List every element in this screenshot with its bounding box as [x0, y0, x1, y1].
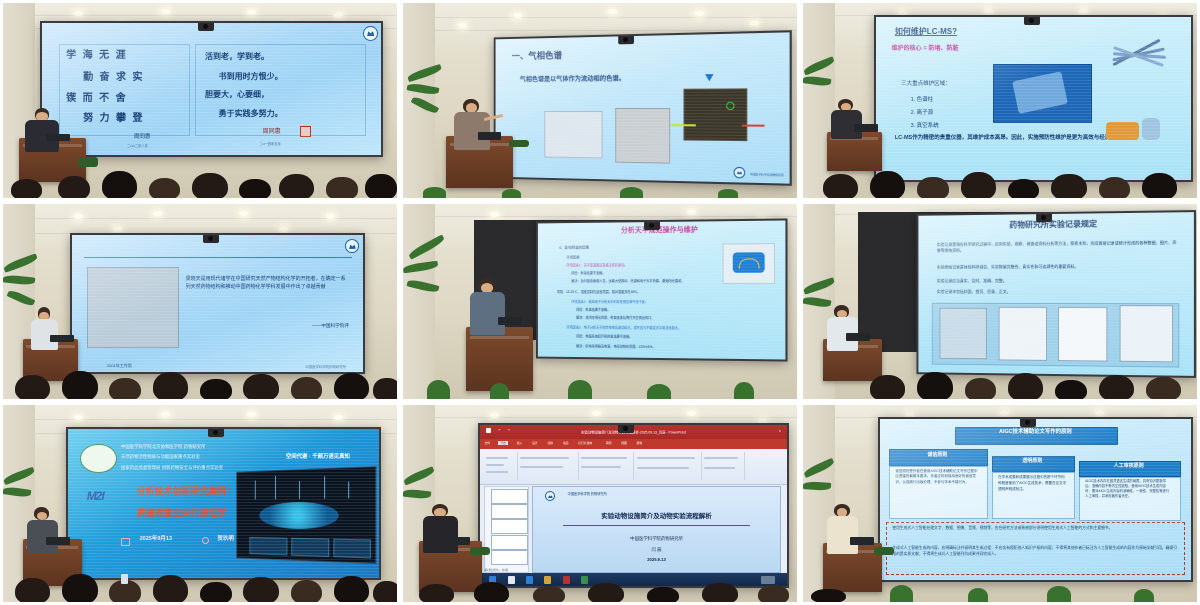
card-heading: 诚信原则 [889, 452, 985, 458]
camera-icon [198, 22, 214, 31]
slide-title: 分析天平规范操作与维护 [538, 226, 786, 237]
speaker-figure [831, 99, 863, 138]
speaker-figure [31, 307, 59, 348]
slide-thumbnail[interactable] [491, 519, 528, 534]
image-gc-instrument [615, 108, 670, 164]
camera-icon [1024, 16, 1040, 25]
deck-presenter: 闫 辰 [533, 547, 780, 553]
down-arrow-icon [705, 74, 713, 81]
slide-lcms: 如何维护LC-MS? 维护的核心 = 防堵、防脏 三大重点维护区域： 1. 色谱… [876, 17, 1191, 181]
list-item: 1. 色谱柱 [911, 97, 934, 104]
institute-logo-icon [345, 239, 359, 253]
calligraphy-right-line-2: 书到用时方恨少。 [219, 72, 283, 82]
slide-lab-records: 药物研究所实验记录规定 实验记录是指在科学研究过程中，应用实验、观察、调查或资料… [919, 212, 1194, 376]
section-label: 三大重点维护区域： [901, 81, 951, 88]
close-icon[interactable]: ✕ [778, 429, 781, 433]
slide-title-line-1: 分析技术创新研究案例： [136, 486, 235, 497]
audience [3, 161, 397, 198]
sop-line: 风险：18-25℃，湿度控制在适宜范围，相对湿度多在45%。 [557, 290, 739, 294]
tab-design[interactable]: 设计 [532, 441, 538, 445]
slide-presenter: 贺玖明 [217, 536, 234, 543]
calligraphy-right-sign: 周同惠 [263, 129, 281, 137]
list-item: 2. 离子源 [911, 110, 934, 117]
slide-thumbnail[interactable] [491, 535, 528, 550]
image-gc-workstation [544, 111, 602, 159]
slide-subtitle: 维护的核心 = 防堵、防脏 [892, 46, 959, 54]
projection-screen: 如何维护LC-MS? 维护的核心 = 防堵、防脏 三大重点维护区域： 1. 色谱… [874, 15, 1193, 183]
calligraphy-right-line-3: 胆要大，心要细， [205, 90, 269, 100]
projection-screen: AIGC技术辅助论文写作的原则 诚信原则 诚信原则是作者在使用AIGC技术辅助论… [878, 417, 1193, 582]
institute-logo-icon [363, 26, 378, 41]
slide-title: 一、气相色谱 [511, 51, 561, 63]
tab-animations[interactable]: 动画 [563, 441, 569, 445]
powerpoint-window[interactable]: ↶ ↷ 实验动物设施简介及动物实验流程解析-2025.09.13_闫辰 - Po… [480, 425, 787, 586]
panel-7-msi-title[interactable]: 中国医学科学院北京协和医学院 药物研究所 天然药物活性物质与功能国家重点实验室 … [0, 402, 400, 605]
slide-title: AIGC技术辅助论文写作的原则 [955, 429, 1117, 436]
bullet-item: 实验记录应当真实、及时、准确、完整。 [937, 277, 1179, 283]
photo-collage-grid: 学 海 无 涯 勤 奋 求 实 锲 而 不 舍 努 力 攀 登 周同惠 二OO二… [0, 0, 1200, 605]
card-body: 在学术成果和成果展示过程中的那个环节何种程度使用了AIGC生成技术，需要在论文中… [998, 475, 1066, 492]
projection-screen: 学 海 无 涯 勤 奋 求 实 锲 而 不 舍 努 力 攀 登 周同惠 二OO二… [40, 21, 383, 158]
ppt-ribbon-tabs[interactable]: 文件 开始 插入 设计 切换 动画 幻灯片放映 审阅 视图 帮助 [480, 439, 787, 449]
tab-insert[interactable]: 插入 [517, 441, 523, 445]
slide-msi-title: 中国医学科学院北京协和医学院 药物研究所 天然药物活性物质与功能国家重点实验室 … [68, 429, 379, 579]
card-heading: 人工审核原则 [1079, 463, 1179, 469]
laptop [46, 134, 70, 142]
org-line: 中国医学科学院北京协和医学院 药物研究所 [121, 444, 206, 451]
sop-line: 环境因素2：使用电子分析天平时存在强空调气流干扰。 [571, 299, 749, 303]
footnote: 使用生成式人工智能处理文字、数据、图像、音频、视频等，应在研究方法或致谢部分说明… [892, 525, 1178, 531]
redo-icon[interactable]: ↷ [508, 428, 511, 432]
camera-icon [208, 428, 224, 437]
calligraphy-right-date: 二O一四年五月 [259, 142, 280, 146]
quote-body: 梁晓天是用现代诸学在中国研究天然产物结构化学的开拓者，在确定一系列天然药物结构和… [186, 275, 349, 292]
image-notebook-4 [1120, 305, 1173, 363]
panel-6-lab-records[interactable]: 药物研究所实验记录规定 实验记录是指在科学研究过程中，应用实验、观察、调查或资料… [800, 201, 1200, 402]
panel-1-calligraphy[interactable]: 学 海 无 涯 勤 奋 求 实 锲 而 不 舍 努 力 攀 登 周同惠 二OO二… [0, 0, 400, 201]
sop-line: 环境因素1：天平室温度过高或过低并波动。 [567, 263, 628, 267]
camera-icon [1020, 418, 1036, 427]
sop-line: 风险：电路系统损坏和称量结果不准确。 [576, 334, 744, 339]
calligraphy-left-line-4: 努 力 攀 登 [83, 113, 145, 126]
sop-line: 解决：及时报告管理人员，远离大型振动、热源和电子天平热源，避免阳光直射。 [571, 279, 734, 283]
deck-logo-text: 中国医学科学院 药物研究所 [568, 491, 607, 496]
calligraphy-left-line-3: 锲 而 不 舍 [66, 93, 128, 106]
quote-attribution: ——中国科学院评 [312, 323, 349, 329]
person-icon [202, 537, 209, 544]
projection-screen: 一、气相色谱 气相色谱是以气体作为流动相的色谱。 中国医学科学院药物研究所 [493, 30, 792, 186]
card-body: 诚信原则是作者在使用AIGC技术辅助论文写作过程中应遵循的最基本要求。作者应时刻… [895, 469, 979, 486]
tab-home[interactable]: 开始 [498, 441, 508, 445]
camera-icon [618, 424, 634, 433]
sop-line: 解决：供电采用稳压电源，电压控制在范围，220V±5%。 [576, 344, 744, 350]
seal-stamp-icon [300, 126, 311, 137]
card-body: AIGC技术内存在固然语言生成的局限，具有知识更新滞后、准确内容不等内生性缺陷。… [1085, 479, 1172, 499]
slide-gc-intro: 一、气相色谱 气相色谱是以气体作为流动相的色谱。 中国医学科学院药物研究所 [495, 33, 790, 184]
projection-screen: 药物研究所实验记录规定 实验记录是指在科学研究过程中，应用实验、观察、调查或资料… [917, 210, 1196, 378]
tab-help[interactable]: 帮助 [637, 441, 643, 445]
ppt-ribbon[interactable] [480, 449, 787, 486]
list-item: 3. 真空系统 [911, 123, 939, 130]
projection-screen: 中国医学科学院北京协和医学院 药物研究所 天然药物活性物质与功能国家重点实验室 … [66, 427, 381, 581]
image-notebook-3 [1059, 306, 1108, 361]
slide-aigc: AIGC技术辅助论文写作的原则 诚信原则 诚信原则是作者在使用AIGC技术辅助论… [880, 419, 1191, 580]
image-vacuum-pump [1106, 112, 1175, 148]
tab-view[interactable]: 视图 [621, 441, 627, 445]
camera-icon [203, 234, 219, 243]
bullet-item: 实验记录是指在科学研究过程中，应用实验、观察、调查或资料分析等方法，探索未知，完… [937, 240, 1179, 254]
slide-title-line-2: 质谱成像空间代谢组学 [136, 508, 226, 519]
deck-date: 2025.9.13 [533, 557, 780, 562]
phone-icon [121, 574, 128, 584]
sop-line: 解决：关闭空调出风量，称量结束后再打开空调出风口。 [576, 315, 744, 320]
bullet-item: 实验记录本包括封面、首页、目录、正文。 [937, 289, 1179, 294]
image-notebook-1 [940, 308, 987, 359]
slide-canvas[interactable]: 中国医学科学院 药物研究所 实验动物设施简介及动物实验流程解析 中国医学科学院药… [532, 486, 781, 573]
slide-calligraphy: 学 海 无 涯 勤 奋 求 实 锲 而 不 舍 努 力 攀 登 周同惠 二OO二… [42, 23, 381, 156]
calligraphy-right-line-4: 勇于实践多努力。 [219, 109, 283, 119]
image-scientist-portrait [87, 267, 179, 348]
panel-2-gas-chromatography[interactable]: 一、气相色谱 气相色谱是以气体作为流动相的色谱。 中国医学科学院药物研究所 [400, 0, 800, 201]
panel-3-lcms-maintenance[interactable]: 如何维护LC-MS? 维护的核心 = 防堵、防脏 三大重点维护区域： 1. 色谱… [800, 0, 1200, 201]
sop-line: 风险：称量结果不准确。 [576, 307, 610, 311]
slide-subsection: 环境因素 [567, 255, 580, 259]
slide-thumbnail[interactable] [491, 550, 528, 565]
panel-4-scientist-tribute[interactable]: 梁晓天是用现代诸学在中国研究天然产物结构化学的开拓者，在确定一系列天然药物结构和… [0, 201, 400, 402]
slide-tagline: 空间代谢 · 千颜万语见真知 [286, 454, 350, 461]
panel-5-balance-sop[interactable]: 分析天平规范操作与维护 6、影响称量的因素 环境因素 环境因素1：天平室温度过高… [400, 201, 800, 402]
card-heading: 透明原则 [992, 458, 1073, 464]
sop-line: 风险：称量结果不准确。 [571, 271, 605, 275]
tab-slideshow[interactable]: 幻灯片放映 [578, 441, 592, 445]
camera-icon [644, 221, 660, 230]
footnote: 生成式人工智能生成的内容，应明确标注并说明其生成过程；不应含有侵犯他人知识产权的… [892, 545, 1178, 557]
deck-title: 实验动物设施简介及动物实验流程解析 [533, 510, 780, 520]
calligraphy-left-line-1: 学 海 无 涯 [66, 50, 128, 63]
tab-file[interactable]: 文件 [484, 441, 490, 445]
org-line: 国家药品监督管理局 创新药物安全与评价重点实验室 [121, 465, 223, 472]
speaker-figure [25, 108, 60, 151]
calligraphy-right-line-1: 活到老，学到老。 [205, 52, 269, 62]
slide-thumbnail-pane[interactable] [484, 486, 529, 573]
camera-icon [618, 35, 634, 44]
calendar-icon [121, 538, 130, 546]
image-injector-closeup [683, 89, 747, 142]
sop-line: 环境因素3：电子分析天平的供电电压波动较大，或失压与不稳定天平电流也较大。 [567, 325, 760, 330]
slide-date: 2025年9月13 [140, 536, 172, 543]
bullet-item: 实验原始记录是体现科研诚信、实验数据完整性、真实性和可追溯性的重要资料。 [937, 263, 1179, 270]
camera-icon [1037, 213, 1053, 222]
panel-8-powerpoint-editor[interactable]: ↶ ↷ 实验动物设施简介及动物实验流程解析-2025.09.13_闫辰 - Po… [400, 402, 800, 605]
image-balance [722, 242, 775, 283]
panel-9-aigc-principles[interactable]: AIGC技术辅助论文写作的原则 诚信原则 诚信原则是作者在使用AIGC技术辅助论… [800, 402, 1200, 605]
undo-icon[interactable]: ↶ [498, 428, 501, 432]
slide-subtitle: 气相色谱是以气体作为流动相的色谱。 [520, 75, 625, 84]
tab-transitions[interactable]: 切换 [547, 441, 553, 445]
m2i-logo-text: M2I [87, 489, 104, 504]
slide-thumbnail[interactable] [491, 504, 528, 519]
deck-org: 中国医学科学院药物研究所 [533, 536, 780, 542]
image-column-fan [1103, 36, 1179, 72]
pumc-logo-icon [80, 444, 116, 473]
status-bar-text: 第1张幻灯片，共n张 [484, 568, 508, 572]
org-line: 天然药物活性物质与功能国家重点实验室 [121, 454, 200, 461]
projection-screen: 梁晓天是用现代诸学在中国研究天然产物结构化学的开拓者，在确定一系列天然药物结构和… [70, 233, 366, 373]
slide-title: 如何维护LC-MS? [895, 27, 957, 37]
slide-balance-sop: 分析天平规范操作与维护 6、影响称量的因素 环境因素 环境因素1：天平室温度过高… [538, 220, 786, 359]
slide-footer-logo-text: 中国医学科学院药物研究所 [750, 174, 784, 178]
projection-screen: ↶ ↷ 实验动物设施简介及动物实验流程解析-2025.09.13_闫辰 - Po… [478, 423, 789, 588]
calligraphy-left-sign: 周同惠 [134, 134, 151, 141]
speaker-figure [827, 305, 859, 348]
slide-section: 6、影响称量的因素 [559, 245, 589, 250]
slide-portrait-quote: 梁晓天是用现代诸学在中国研究天然产物结构化学的开拓者，在确定一系列天然药物结构和… [72, 235, 364, 371]
slide-thumbnail[interactable] [491, 489, 528, 504]
calligraphy-left-line-2: 勤 奋 求 实 [83, 72, 145, 85]
projection-screen: 分析天平规范操作与维护 6、影响称量的因素 环境因素 环境因素1：天平室温度过高… [536, 218, 788, 362]
figure-brain-msi [236, 466, 376, 564]
slide-title: 药物研究所实验记录规定 [919, 218, 1194, 231]
image-notebook-2 [999, 306, 1047, 361]
speaker-figure [454, 99, 489, 148]
institute-logo-icon [545, 491, 555, 501]
calligraphy-left-date: 二OO二年八月 [127, 144, 148, 148]
save-icon[interactable] [486, 428, 491, 433]
footer-logo-icon [733, 167, 745, 179]
tab-review[interactable]: 审阅 [606, 441, 612, 445]
